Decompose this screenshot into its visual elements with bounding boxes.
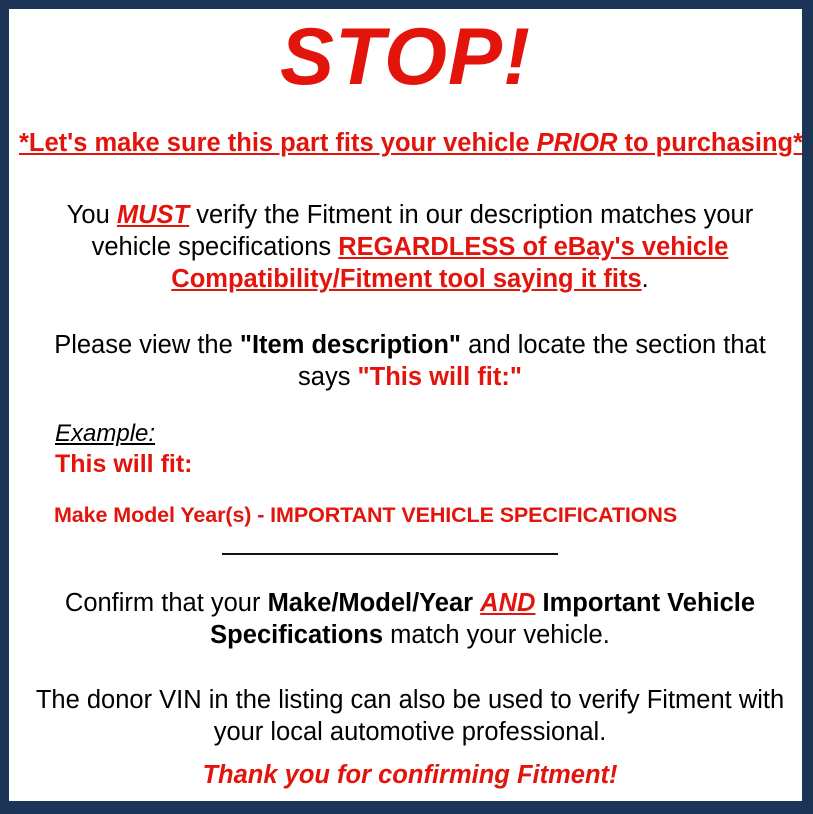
paragraph-must-verify: You MUST verify the Fitment in our descr… bbox=[27, 199, 793, 295]
subtitle-part1: *Let's make sure this part fits your veh… bbox=[19, 129, 537, 157]
item-description-emphasis: "Item description" bbox=[240, 331, 461, 359]
example-label: Example: bbox=[55, 421, 193, 447]
example-block: Example: This will fit: bbox=[55, 421, 193, 479]
paragraph-confirm-match: Confirm that your Make/Model/Year AND Im… bbox=[27, 587, 793, 651]
this-will-fit-emphasis: "This will fit:" bbox=[358, 363, 522, 391]
confirm-seg-1: Confirm that your bbox=[65, 589, 268, 617]
section-divider bbox=[222, 553, 558, 555]
make-model-year-emphasis: Make/Model/Year bbox=[268, 589, 474, 617]
confirm-seg-5: match your vehicle. bbox=[383, 621, 610, 649]
poster-inner-content: STOP! *Let's make sure this part fits yo… bbox=[9, 9, 802, 801]
thank-you-line: Thank you for confirming Fitment! bbox=[27, 761, 793, 790]
and-emphasis: AND bbox=[480, 589, 535, 617]
subtitle-banner: *Let's make sure this part fits your veh… bbox=[19, 128, 792, 159]
must-seg-1: You bbox=[67, 201, 117, 229]
subtitle-part2: to purchasing* bbox=[617, 129, 803, 157]
subtitle-prior-emphasis: PRIOR bbox=[537, 129, 618, 157]
view-seg-1: Please view the bbox=[54, 331, 240, 359]
paragraph-donor-vin: The donor VIN in the listing can also be… bbox=[27, 684, 793, 748]
must-seg-5: . bbox=[642, 265, 649, 293]
paragraph-view-item-description: Please view the "Item description" and l… bbox=[27, 329, 793, 393]
fitment-warning-poster: STOP! *Let's make sure this part fits yo… bbox=[0, 0, 813, 814]
must-emphasis: MUST bbox=[117, 201, 189, 229]
stop-headline: STOP! bbox=[9, 15, 802, 100]
example-spec-line: Make Model Year(s) - IMPORTANT VEHICLE S… bbox=[54, 503, 677, 528]
example-this-will-fit-heading: This will fit: bbox=[55, 449, 193, 479]
